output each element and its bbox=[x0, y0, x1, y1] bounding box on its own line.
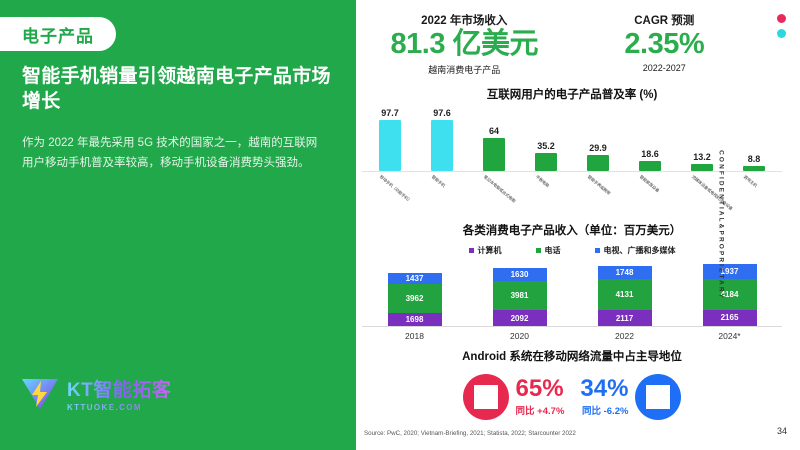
x-tick-label: 智能家居设备 bbox=[638, 174, 660, 194]
kpi-row: 2022 年市场收入 81.3 亿美元 越南消费电子产品 CAGR 预测 2.3… bbox=[356, 12, 756, 76]
logo-subtitle: KTTUOKE.COM bbox=[67, 403, 171, 412]
x-tick-label: 2022 bbox=[598, 331, 652, 341]
ios-stat-text: 34% 同比 -6.2% bbox=[580, 377, 628, 417]
bar-value-label: 35.2 bbox=[537, 141, 555, 151]
x-tick-label: 智能手表或腕带 bbox=[586, 174, 611, 197]
x-tick-label: 2024* bbox=[703, 331, 757, 341]
android-stat-primary: 65% 同比 +4.7% bbox=[463, 374, 565, 420]
bar-group: 29.9 bbox=[578, 143, 618, 171]
bar-segment: 2092 bbox=[493, 310, 547, 326]
kpi-cagr: CAGR 预测 2.35% 2022-2027 bbox=[573, 12, 756, 76]
lightning-bolt-icon bbox=[20, 376, 60, 412]
bar-segment: 2165 bbox=[703, 310, 757, 326]
legend-swatch bbox=[595, 248, 600, 253]
bar-group: 35.2 bbox=[526, 141, 566, 171]
bar bbox=[587, 155, 609, 171]
brand-logo: KT智能拓客 KTTUOKE.COM bbox=[20, 375, 171, 412]
bar-value-label: 97.7 bbox=[381, 108, 399, 118]
x-tick-label: 2018 bbox=[388, 331, 442, 341]
bar-group: 64 bbox=[474, 126, 514, 171]
section-tag-label: 电子产品 bbox=[22, 22, 94, 47]
x-tick-label: 游戏主机 bbox=[742, 174, 758, 189]
bar bbox=[483, 138, 505, 171]
bar bbox=[691, 164, 713, 171]
ios-percent: 34% bbox=[580, 377, 628, 401]
bar bbox=[639, 161, 661, 171]
x-tick-label: 智能手机 bbox=[430, 174, 446, 189]
android-title: Android 系统在移动网络流量中占主导地位 bbox=[362, 348, 782, 364]
legend-item: 计算机 bbox=[469, 245, 502, 256]
bar-segment: 1437 bbox=[388, 273, 442, 284]
bar bbox=[431, 120, 453, 171]
section-tag-pill: 电子产品 bbox=[0, 17, 116, 51]
page-number: 34 bbox=[777, 426, 787, 436]
x-tick: 智能家居设备 bbox=[630, 172, 670, 224]
bar-group: 18.6 bbox=[630, 149, 670, 171]
bar-segment: 2117 bbox=[598, 310, 652, 326]
bar-group: 13.2 bbox=[682, 152, 722, 171]
logo-title: KT智能拓客 bbox=[67, 375, 171, 402]
ios-share-circle-icon bbox=[635, 374, 681, 420]
bar-segment: 1748 bbox=[598, 266, 652, 279]
android-delta: 同比 +4.7% bbox=[516, 403, 565, 417]
stacked-bar: 143739621698 bbox=[388, 273, 442, 326]
slide: 电子产品 智能手机销量引领越南电子产品市场增长 作为 2022 年最先采用 5G… bbox=[0, 0, 800, 450]
left-intro-panel: 电子产品 智能手机销量引领越南电子产品市场增长 作为 2022 年最先采用 5G… bbox=[0, 0, 356, 450]
accent-dot-red bbox=[777, 14, 786, 23]
x-tick: 智能手表或腕带 bbox=[578, 172, 618, 224]
bar-segment: 3981 bbox=[493, 281, 547, 311]
legend-item: 电话 bbox=[536, 245, 561, 256]
kpi-value: 81.3 亿美元 bbox=[356, 28, 573, 62]
bar-segment: 3962 bbox=[388, 284, 442, 314]
bar-value-label: 29.9 bbox=[589, 143, 607, 153]
accent-dots bbox=[777, 14, 786, 38]
chart-x-axis: 2018202020222024* bbox=[362, 331, 782, 341]
bar-group: 97.6 bbox=[422, 108, 462, 171]
source-note: Source: PwC, 2020; Vietnam-Briefing, 202… bbox=[364, 430, 576, 437]
bar bbox=[379, 120, 401, 171]
bar-value-label: 18.6 bbox=[641, 149, 659, 159]
legend-label: 计算机 bbox=[478, 245, 502, 256]
bar-group: 8.8 bbox=[734, 154, 774, 171]
circle-inner-square bbox=[646, 385, 670, 409]
bar-value-label: 97.6 bbox=[433, 108, 451, 118]
intro-paragraph: 作为 2022 年最先采用 5G 技术的国家之一，越南的互联网用户移动手机普及率… bbox=[22, 133, 327, 173]
legend-swatch bbox=[536, 248, 541, 253]
stacked-bar: 174841312117 bbox=[598, 266, 652, 326]
android-percent: 65% bbox=[516, 377, 565, 401]
kpi-market-revenue: 2022 年市场收入 81.3 亿美元 越南消费电子产品 bbox=[356, 12, 573, 76]
android-share-circle-icon bbox=[463, 374, 509, 420]
x-tick: 游戏主机 bbox=[734, 172, 774, 224]
chart-title: 互联网用户的电子产品普及率 (%) bbox=[362, 86, 782, 102]
bar-segment: 1698 bbox=[388, 313, 442, 326]
logo-text: KT智能拓客 KTTUOKE.COM bbox=[67, 375, 171, 412]
circle-inner-square bbox=[474, 385, 498, 409]
kpi-note: 2022-2027 bbox=[573, 63, 756, 73]
x-tick: 移动手机（功能手机） bbox=[370, 172, 410, 224]
android-stat-text: 65% 同比 +4.7% bbox=[516, 377, 565, 417]
x-tick-label: 流媒体设备或电视机顶盒设备 bbox=[690, 174, 734, 212]
bar-value-label: 13.2 bbox=[693, 152, 711, 162]
page-title: 智能手机销量引领越南电子产品市场增长 bbox=[22, 64, 334, 114]
confidential-label: CONFIDENTIAL&PROPRIETARY bbox=[718, 150, 725, 300]
bar-segment: 1937 bbox=[703, 264, 757, 279]
legend-label: 电话 bbox=[545, 245, 561, 256]
android-stats-row: 65% 同比 +4.7% 34% 同比 -6.2% bbox=[362, 374, 782, 420]
ios-delta: 同比 -6.2% bbox=[580, 403, 628, 417]
legend-item: 电视、广播和多媒体 bbox=[595, 245, 676, 256]
stacked-bar: 163039812092 bbox=[493, 268, 547, 326]
stacked-bar: 193741842165 bbox=[703, 264, 757, 326]
android-stat-secondary: 34% 同比 -6.2% bbox=[580, 374, 681, 420]
x-tick: 平板电脑 bbox=[526, 172, 566, 224]
x-tick-label: 移动手机（功能手机） bbox=[378, 174, 412, 204]
x-tick-label: 笔记本电脑或台式电脑 bbox=[482, 174, 516, 204]
x-tick: 智能手机 bbox=[422, 172, 462, 224]
kpi-label: 2022 年市场收入 bbox=[356, 12, 573, 28]
bar-value-label: 8.8 bbox=[748, 154, 761, 164]
bar bbox=[743, 166, 765, 171]
x-tick-label: 平板电脑 bbox=[534, 174, 550, 189]
legend-label: 电视、广播和多媒体 bbox=[604, 245, 676, 256]
kpi-label: CAGR 预测 bbox=[573, 12, 756, 28]
bar-segment: 4131 bbox=[598, 279, 652, 310]
kpi-note: 越南消费电子产品 bbox=[356, 63, 573, 76]
x-tick: 笔记本电脑或台式电脑 bbox=[474, 172, 514, 224]
bar-group: 97.7 bbox=[370, 108, 410, 171]
bar-segment: 1630 bbox=[493, 268, 547, 280]
kpi-value: 2.35% bbox=[573, 28, 756, 62]
accent-dot-cyan bbox=[777, 29, 786, 38]
x-tick: 流媒体设备或电视机顶盒设备 bbox=[682, 172, 722, 224]
bar-value-label: 64 bbox=[489, 126, 499, 136]
legend-swatch bbox=[469, 248, 474, 253]
android-share-block: Android 系统在移动网络流量中占主导地位 65% 同比 +4.7% 34%… bbox=[362, 348, 782, 420]
bar bbox=[535, 153, 557, 171]
right-content-panel: 2022 年市场收入 81.3 亿美元 越南消费电子产品 CAGR 预测 2.3… bbox=[356, 0, 800, 450]
x-tick-label: 2020 bbox=[493, 331, 547, 341]
bar-segment: 4184 bbox=[703, 279, 757, 310]
